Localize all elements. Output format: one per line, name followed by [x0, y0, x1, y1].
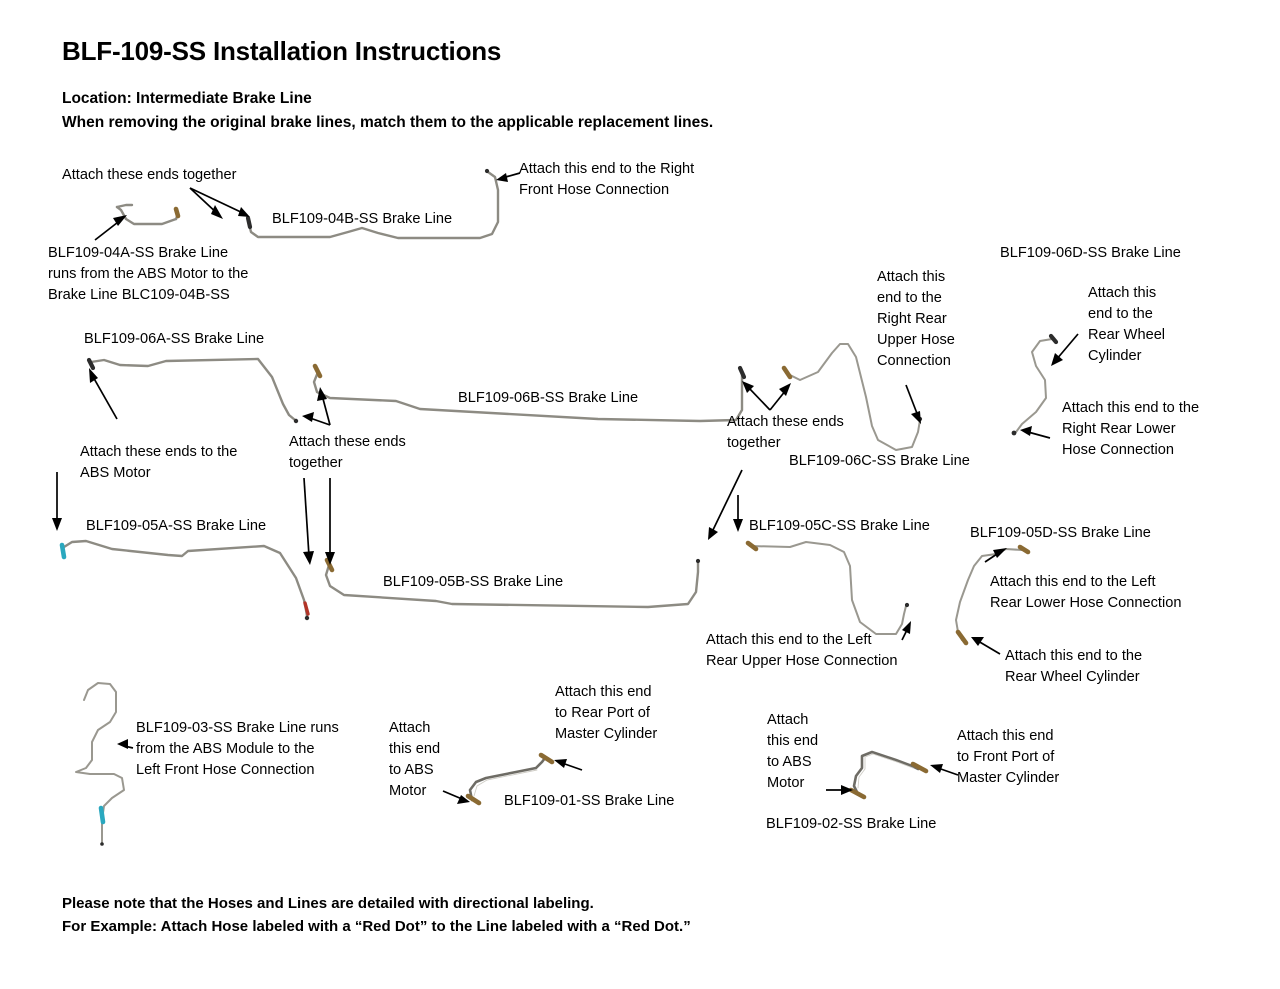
arrow-rear-port-master-cyl [554, 759, 582, 770]
label-line-06c: BLF109-06C-SS Brake Line [789, 451, 970, 472]
label-attach-ends-together-mid-right: Attach these ends together [727, 412, 844, 454]
arrow-rear-wheel-cylinder-left [971, 637, 1000, 654]
arrow-right-rear-upper-hose [906, 385, 921, 424]
footnote-line-2: For Example: Attach Hose labeled with a … [62, 918, 691, 935]
label-line-04b: BLF109-04B-SS Brake Line [272, 209, 452, 230]
instruction-line: When removing the original brake lines, … [62, 114, 713, 132]
label-line-06b: BLF109-06B-SS Brake Line [458, 388, 638, 409]
caption-line-03: BLF109-03-SS Brake Line runs from the AB… [136, 718, 339, 781]
label-attach-ends-together-mid-left: Attach these ends together [289, 432, 406, 474]
arrow-front-port-master-cyl [930, 764, 958, 775]
arrow-attach-ends-together-top [190, 188, 250, 219]
label-attach-right-front-hose: Attach this end to the Right Front Hose … [519, 159, 694, 201]
label-line-05a: BLF109-05A-SS Brake Line [86, 516, 266, 537]
label-attach-ends-together-top: Attach these ends together [62, 165, 236, 186]
arrow-abs-motor-02 [826, 785, 853, 795]
arrow-line-04a-caption [95, 215, 127, 240]
arrow-abs-motor-lower [52, 472, 62, 531]
label-attach-rear-port-master-cylinder: Attach this end to Rear Port of Master C… [555, 682, 657, 745]
brake-line-06d-shape [1012, 336, 1056, 435]
brake-line-06a-shape [89, 359, 298, 423]
label-attach-right-rear-upper: Attach this end to the Right Rear Upper … [877, 267, 955, 372]
page-title: BLF-109-SS Installation Instructions [62, 36, 501, 67]
arrow-left-rear-lower-hose [985, 548, 1007, 562]
brake-line-03-shape [76, 683, 124, 846]
footnote-line-1: Please note that the Hoses and Lines are… [62, 895, 594, 912]
arrow-rear-wheel-cylinder-right [1051, 334, 1078, 366]
arrow-05c-label [733, 495, 743, 532]
label-line-06a: BLF109-06A-SS Brake Line [84, 329, 264, 350]
brake-line-05c-shape [748, 542, 909, 634]
label-line-05d: BLF109-05D-SS Brake Line [970, 523, 1151, 544]
label-attach-front-port-master-cylinder: Attach this end to Front Port of Master … [957, 726, 1059, 789]
arrow-abs-motor-upper [89, 368, 117, 419]
brake-line-02-shape [851, 752, 926, 797]
brake-line-05a-shape [62, 541, 309, 620]
arrow-ends-together-mid-left-lower [303, 478, 335, 565]
label-line-05c: BLF109-05C-SS Brake Line [749, 516, 930, 537]
label-attach-ends-abs-motor: Attach these ends to the ABS Motor [80, 442, 237, 484]
label-attach-left-rear-upper: Attach this end to the Left Rear Upper H… [706, 630, 897, 672]
label-attach-left-rear-lower: Attach this end to the Left Rear Lower H… [990, 572, 1181, 614]
label-line-01: BLF109-01-SS Brake Line [504, 791, 674, 812]
label-attach-rear-wheel-cylinder-left: Attach this end to the Rear Wheel Cylind… [1005, 646, 1142, 688]
arrow-ends-together-to-05c [708, 470, 742, 540]
label-attach-rear-wheel-cylinder-right: Attach this end to the Rear Wheel Cylind… [1088, 283, 1165, 367]
label-attach-right-rear-lower: Attach this end to the Right Rear Lower … [1062, 398, 1199, 461]
arrow-right-front-hose [496, 173, 520, 182]
arrow-line-03-caption [117, 739, 133, 749]
arrow-ends-together-mid-left-upper [302, 387, 330, 425]
arrow-left-rear-upper-hose [902, 621, 911, 640]
brake-line-04a-shape [117, 205, 178, 224]
caption-line-04a: BLF109-04A-SS Brake Line runs from the A… [48, 243, 248, 306]
label-attach-abs-motor-01: Attach this end to ABS Motor [389, 718, 440, 802]
label-line-05b: BLF109-05B-SS Brake Line [383, 572, 563, 593]
arrow-abs-motor-01 [443, 791, 470, 804]
arrow-ends-together-mid-right [742, 381, 791, 410]
label-line-02: BLF109-02-SS Brake Line [766, 814, 936, 835]
instruction-sheet-page: BLF-109-SS Installation Instructions Loc… [0, 0, 1280, 989]
arrow-right-rear-lower-hose [1020, 426, 1050, 438]
location-line: Location: Intermediate Brake Line [62, 90, 312, 108]
brake-line-diagram [0, 0, 1280, 989]
label-attach-abs-motor-02: Attach this end to ABS Motor [767, 710, 818, 794]
label-line-06d: BLF109-06D-SS Brake Line [1000, 243, 1181, 264]
